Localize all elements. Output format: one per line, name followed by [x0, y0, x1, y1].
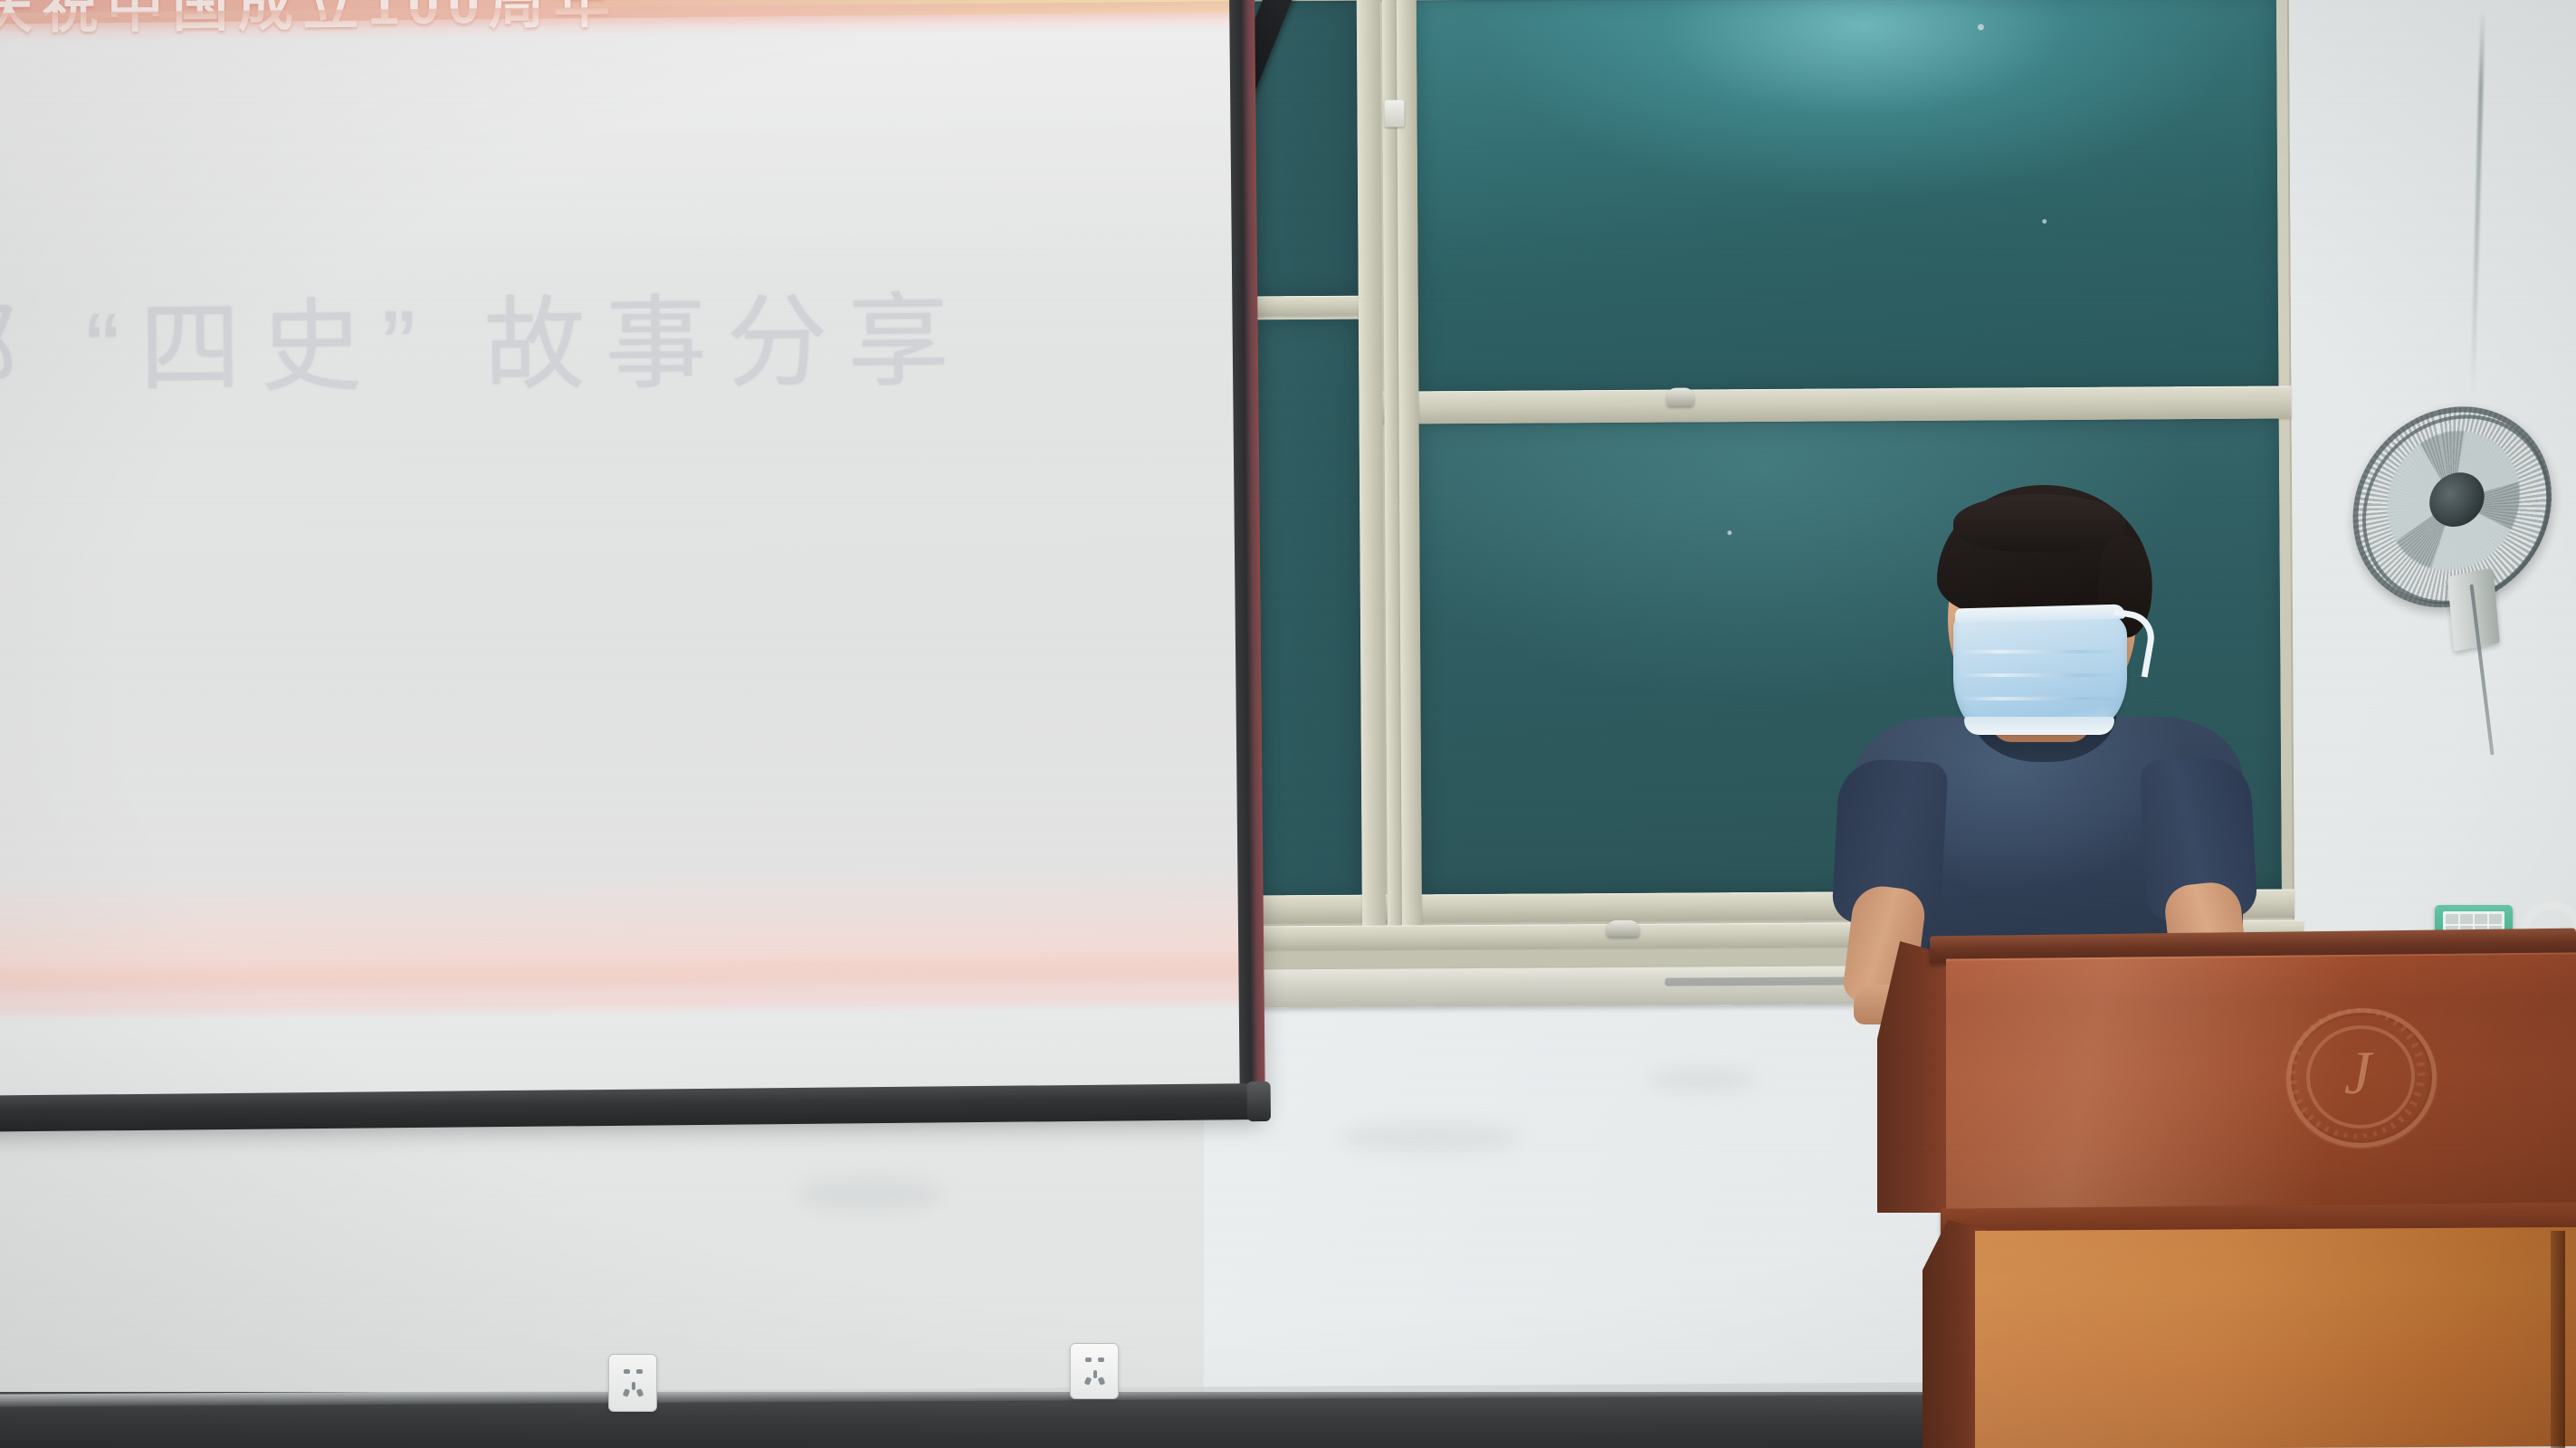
wall-socket-left — [608, 1354, 657, 1412]
slide-title-text: 部 “四史” 故事分享 — [0, 259, 969, 415]
classroom-photo: 庆祝中国成立100周年 部 “四史” 故事分享 — [0, 0, 2576, 1448]
wall-smudge — [797, 1176, 941, 1213]
face-mask-bottom-edge — [1964, 717, 2114, 735]
wall-smudge — [1340, 1122, 1521, 1153]
chalk-clip-icon — [1384, 100, 1404, 127]
lectern-emblem: J — [2286, 1007, 2428, 1139]
wall-smudge — [1647, 1068, 1756, 1091]
keypad-key[interactable] — [2460, 914, 2473, 924]
projection-screen: 庆祝中国成立100周年 部 “四史” 故事分享 — [0, 0, 1264, 1129]
emblem-monogram: J — [2326, 1037, 2390, 1109]
presenter-hair-front — [1953, 494, 2125, 552]
keypad-key[interactable] — [2446, 914, 2458, 924]
chalkboard-slide-knob[interactable] — [1607, 920, 1639, 937]
face-mask — [1953, 608, 2127, 733]
face-mask-pleat — [1961, 697, 2120, 700]
face-mask-pleat — [1961, 673, 2120, 677]
keypad-key[interactable] — [2475, 914, 2487, 924]
screen-surface: 庆祝中国成立100周年 部 “四史” 故事分享 — [0, 0, 1241, 1097]
chalkboard-panel-left-lower — [1254, 319, 1362, 900]
presenter — [1837, 489, 2263, 959]
keypad-key[interactable] — [2489, 914, 2502, 924]
face-mask-pleat — [1961, 650, 2120, 653]
lectern-body-right-edge — [2551, 1231, 2565, 1448]
chalkboard-rail-mid — [1377, 386, 2291, 424]
wall-socket-right — [1070, 1343, 1119, 1399]
face-mask-ear-strap — [2104, 608, 2158, 677]
lectern-front-sheen — [1946, 952, 2576, 1217]
chalkboard-panel-upper — [1417, 0, 2279, 395]
chalkboard-slide-knob[interactable] — [1666, 387, 1693, 405]
screen-bottom-cap — [1247, 1081, 1271, 1121]
lectern: J — [1863, 932, 2576, 1448]
lectern-body-sheen — [1975, 1227, 2576, 1448]
slide-lower-band — [0, 948, 1240, 999]
